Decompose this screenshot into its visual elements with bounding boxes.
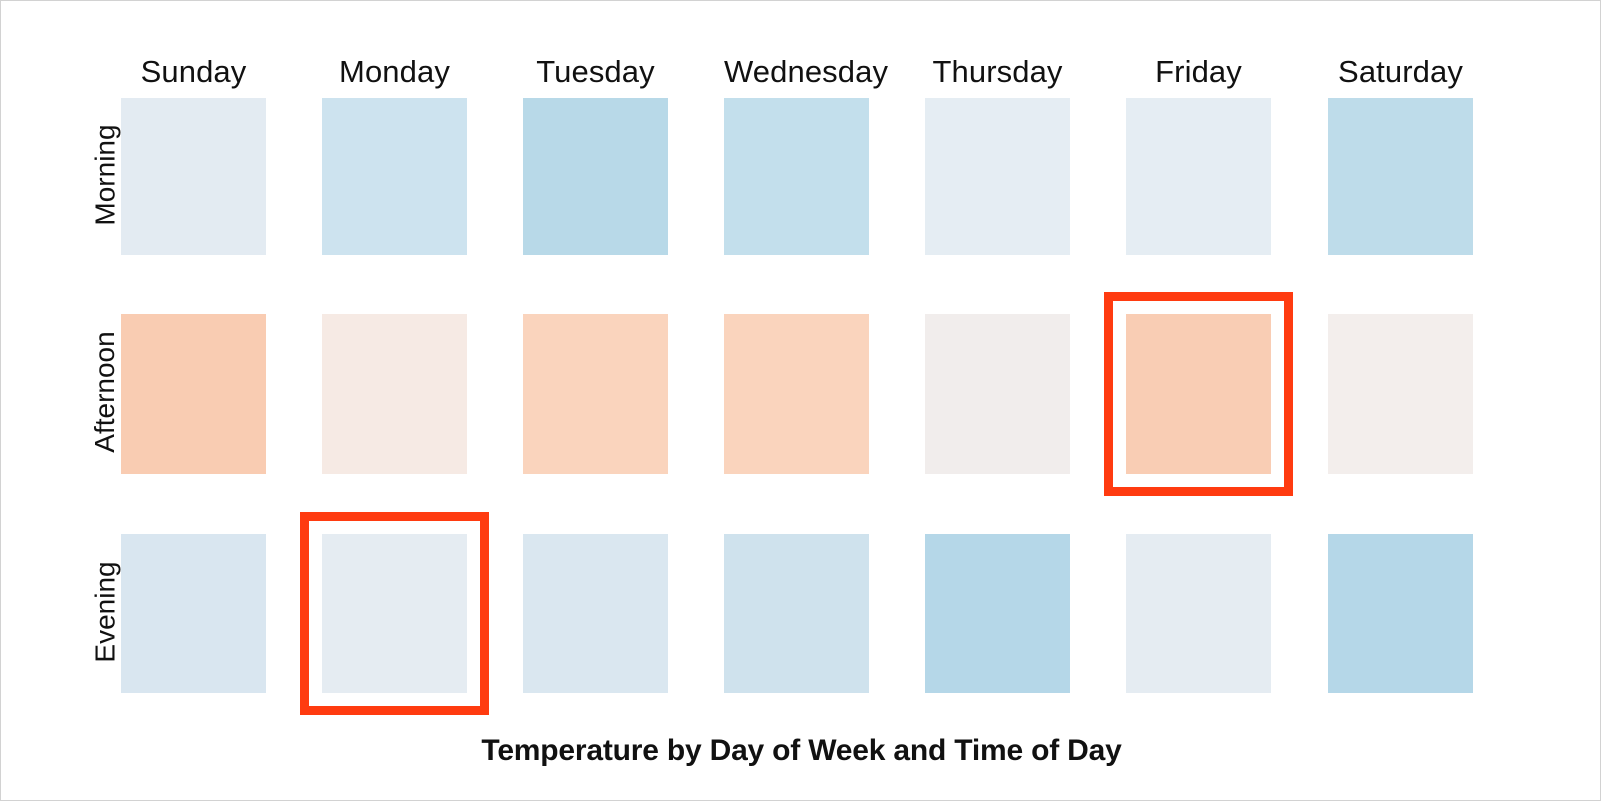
heatmap-cell-wednesday-morning[interactable] [724,98,869,255]
heatmap-cell-monday-afternoon[interactable] [322,314,467,474]
heatmap-cell-tuesday-evening[interactable] [523,534,668,693]
heatmap-cell-sunday-morning[interactable] [121,98,266,255]
column-header-thursday: Thursday [925,56,1070,87]
heatmap-cell-thursday-afternoon[interactable] [925,314,1070,474]
heatmap-cell-saturday-afternoon[interactable] [1328,314,1473,474]
column-header-sunday: Sunday [121,56,266,87]
heatmap-cell-thursday-morning[interactable] [925,98,1070,255]
column-header-wednesday: Wednesday [724,56,869,87]
heatmap-cell-sunday-afternoon[interactable] [121,314,266,474]
row-label-evening: Evening [91,532,119,691]
heatmap-plot-area: SundayMondayTuesdayWednesdayThursdayFrid… [1,1,1601,801]
column-header-monday: Monday [322,56,467,87]
column-header-saturday: Saturday [1328,56,1473,87]
heatmap-cell-sunday-evening[interactable] [121,534,266,693]
row-label-morning: Morning [91,96,119,253]
column-header-friday: Friday [1126,56,1271,87]
heatmap-cell-wednesday-afternoon[interactable] [724,314,869,474]
heatmap-cell-monday-morning[interactable] [322,98,467,255]
row-label-afternoon: Afternoon [91,312,119,472]
heatmap-cell-saturday-evening[interactable] [1328,534,1473,693]
chart-title: Temperature by Day of Week and Time of D… [1,734,1601,768]
column-header-tuesday: Tuesday [523,56,668,87]
heatmap-figure: SundayMondayTuesdayWednesdayThursdayFrid… [0,0,1601,801]
heatmap-cell-tuesday-afternoon[interactable] [523,314,668,474]
heatmap-cell-wednesday-evening[interactable] [724,534,869,693]
heatmap-cell-friday-evening[interactable] [1126,534,1271,693]
heatmap-cell-friday-afternoon[interactable] [1126,314,1271,474]
heatmap-cell-thursday-evening[interactable] [925,534,1070,693]
heatmap-cell-friday-morning[interactable] [1126,98,1271,255]
heatmap-cell-tuesday-morning[interactable] [523,98,668,255]
heatmap-cell-saturday-morning[interactable] [1328,98,1473,255]
heatmap-cell-monday-evening[interactable] [322,534,467,693]
